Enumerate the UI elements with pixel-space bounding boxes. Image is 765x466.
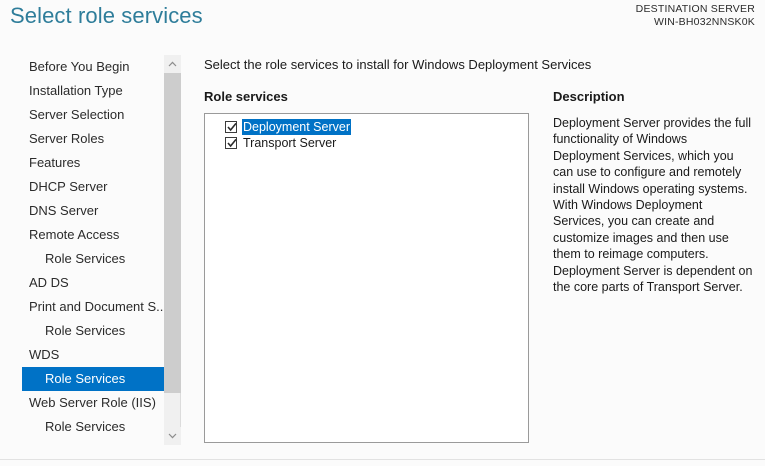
- sidebar-item-dns-server[interactable]: DNS Server: [0, 199, 164, 223]
- sidebar-item-list: Before You BeginInstallation TypeServer …: [0, 55, 164, 445]
- destination-server-label: DESTINATION SERVER: [636, 3, 755, 16]
- checkbox-checked-icon[interactable]: [225, 121, 237, 133]
- sidebar-item-server-selection[interactable]: Server Selection: [0, 103, 164, 127]
- page-title: Select role services: [10, 3, 203, 29]
- sidebar-item-installation-type[interactable]: Installation Type: [0, 79, 164, 103]
- checkbox-checked-icon[interactable]: [225, 137, 237, 149]
- description-heading: Description: [553, 89, 625, 104]
- sidebar-item-server-roles[interactable]: Server Roles: [0, 127, 164, 151]
- header: Select role services DESTINATION SERVER …: [0, 0, 765, 40]
- sidebar-item-print-and-document-s[interactable]: Print and Document S...: [0, 295, 164, 319]
- destination-server-name: WIN-BH032NNSK0K: [636, 16, 755, 29]
- role-service-label[interactable]: Transport Server: [242, 135, 337, 151]
- sidebar-item-remote-access[interactable]: Remote Access: [0, 223, 164, 247]
- role-service-row[interactable]: Deployment Server: [225, 119, 528, 135]
- destination-server-block: DESTINATION SERVER WIN-BH032NNSK0K: [636, 3, 755, 29]
- sidebar-item-dhcp-server[interactable]: DHCP Server: [0, 175, 164, 199]
- instruction-text: Select the role services to install for …: [204, 57, 591, 72]
- sidebar-item-web-server-role-iis[interactable]: Web Server Role (IIS): [0, 391, 164, 415]
- role-service-row[interactable]: Transport Server: [225, 135, 528, 151]
- sidebar-scrollbar[interactable]: [164, 55, 181, 445]
- role-service-label[interactable]: Deployment Server: [242, 119, 351, 135]
- sidebar-scrollbar-thumb[interactable]: [164, 73, 181, 393]
- sidebar-item-wds[interactable]: WDS: [0, 343, 164, 367]
- sidebar-item-role-services[interactable]: Role Services: [0, 415, 164, 439]
- footer-area: [0, 460, 765, 466]
- role-services-listbox[interactable]: Deployment ServerTransport Server: [204, 113, 529, 443]
- sidebar-item-ad-ds[interactable]: AD DS: [0, 271, 164, 295]
- sidebar-item-before-you-begin[interactable]: Before You Begin: [0, 55, 164, 79]
- sidebar-item-role-services[interactable]: Role Services: [0, 319, 164, 343]
- description-text: Deployment Server provides the full func…: [553, 115, 753, 295]
- sidebar-item-role-services[interactable]: Role Services: [0, 247, 164, 271]
- sidebar-item-role-services[interactable]: Role Services: [22, 367, 166, 391]
- role-services-heading: Role services: [204, 89, 288, 104]
- wizard-navigation-sidebar: Before You BeginInstallation TypeServer …: [0, 55, 182, 445]
- chevron-down-icon[interactable]: [164, 427, 181, 445]
- chevron-up-icon[interactable]: [164, 55, 181, 73]
- sidebar-item-features[interactable]: Features: [0, 151, 164, 175]
